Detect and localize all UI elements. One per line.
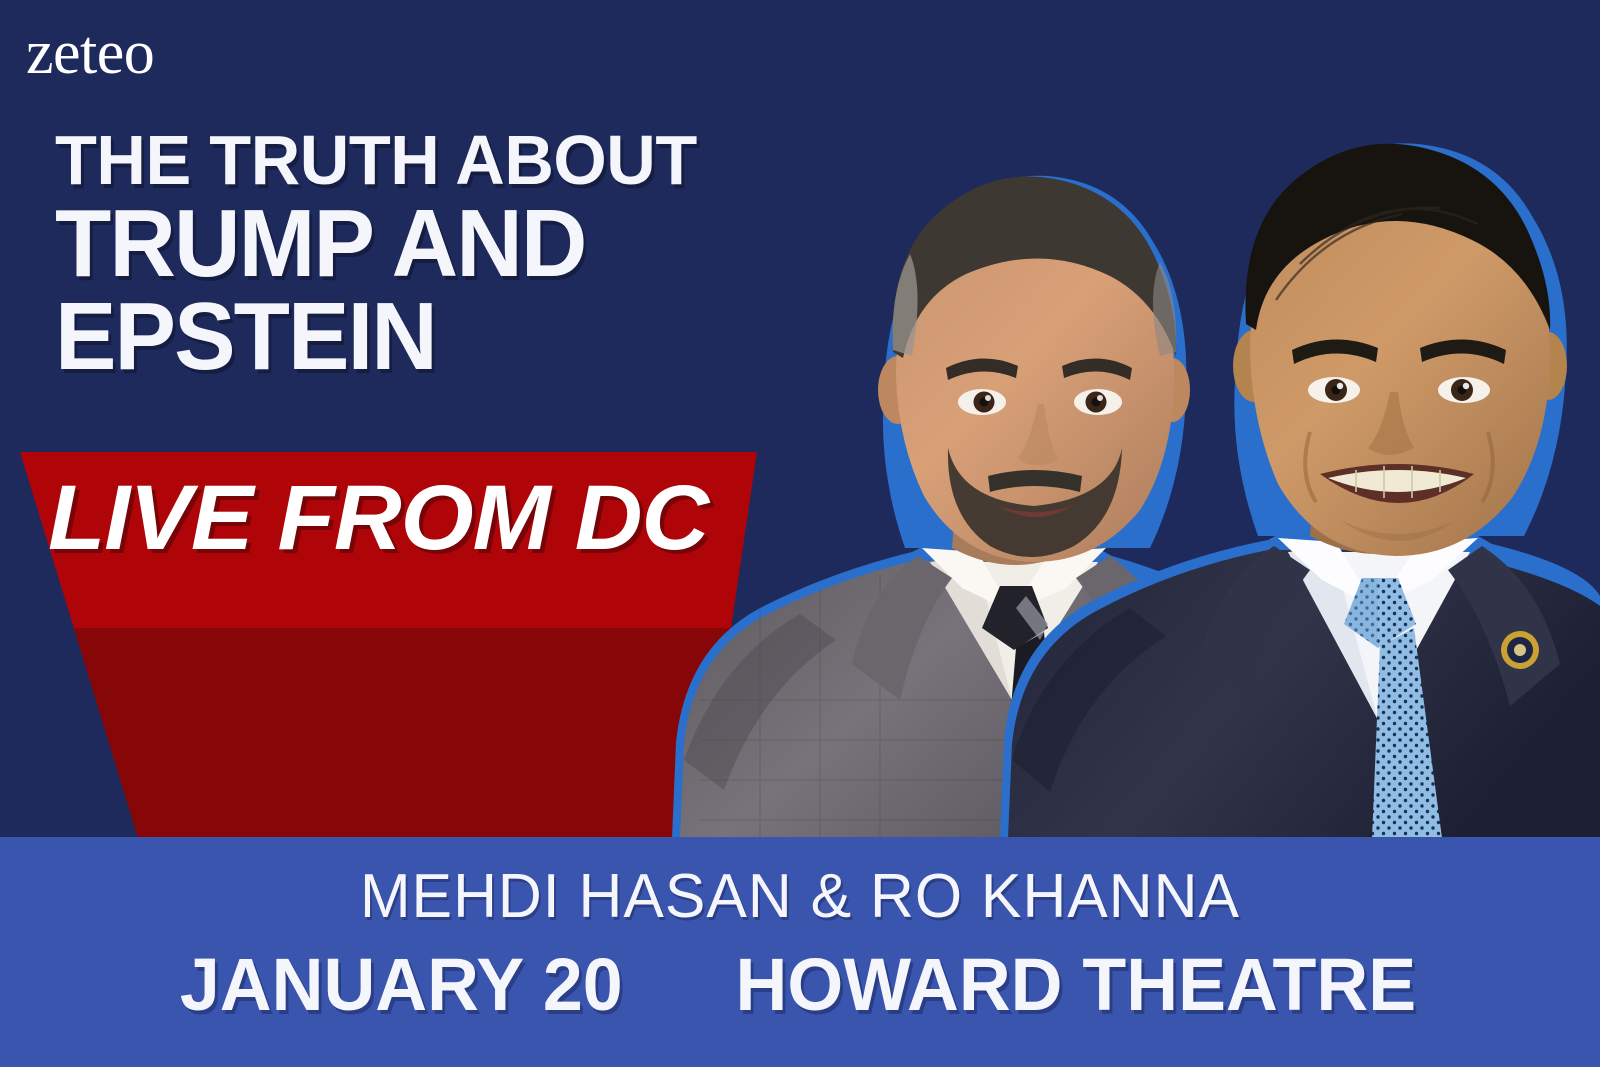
headline-block: THE TRUTH ABOUT TRUMP AND EPSTEIN [55, 128, 710, 382]
event-footer-bar: MEHDI HASAN & RO KHANNA JANUARY 20 HOWAR… [0, 837, 1600, 1067]
headline-line-1: THE TRUTH ABOUT [55, 128, 697, 193]
brand-logo: zeteo [26, 22, 154, 84]
live-from-dc-text: LIVE FROM DC [48, 466, 708, 571]
headline-line-2: TRUMP AND [55, 199, 684, 288]
event-date: JANUARY 20 [180, 942, 623, 1027]
event-promo-poster: zeteo THE TRUTH ABOUT TRUMP AND EPSTEIN … [0, 0, 1600, 1067]
portrait-ro-khanna [1000, 143, 1600, 838]
event-venue: HOWARD THEATRE [736, 942, 1417, 1027]
headline-line-3: EPSTEIN [55, 292, 684, 381]
show-details-line: JANUARY 20 HOWARD THEATRE [0, 942, 1600, 1027]
portrait-mehdi-hasan [672, 176, 1312, 838]
speakers-line: MEHDI HASAN & RO KHANNA [16, 861, 1584, 932]
